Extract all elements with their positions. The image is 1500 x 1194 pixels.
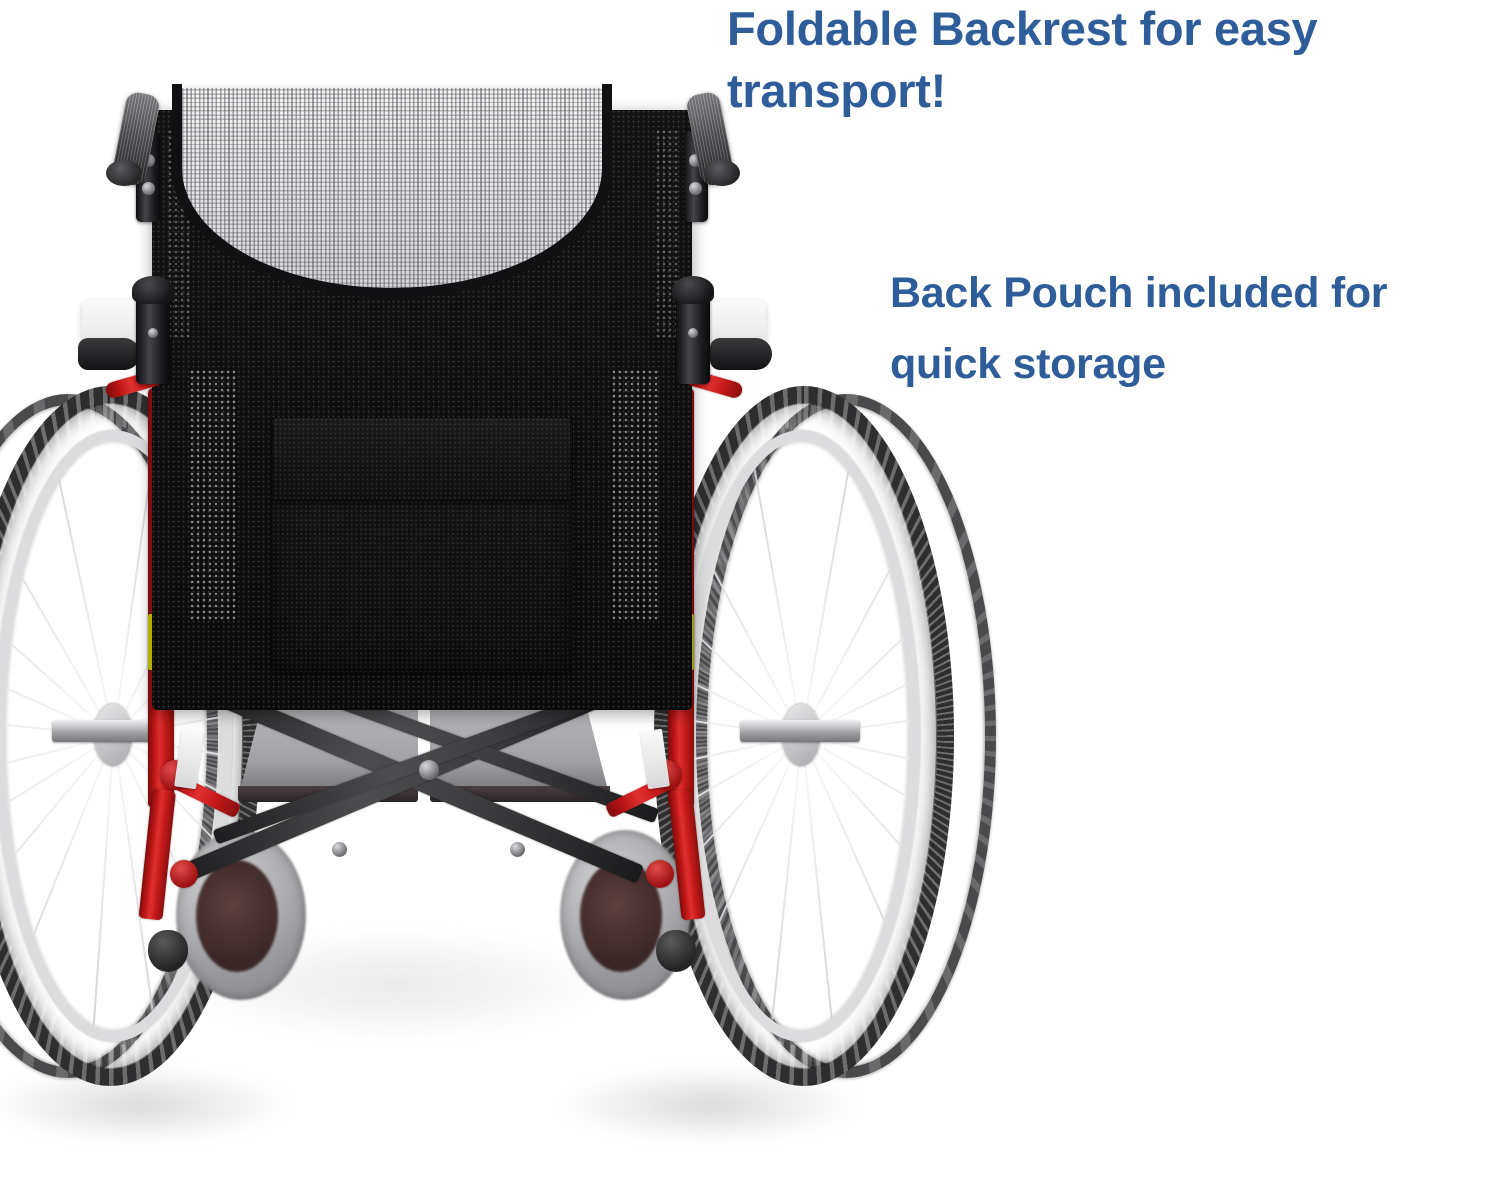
callout-back-pouch: Back Pouch included for quick storage bbox=[890, 258, 1410, 400]
backrest-vent-left bbox=[190, 370, 236, 620]
backrest-release-knob-left[interactable] bbox=[132, 276, 174, 304]
backrest-vent-right bbox=[612, 370, 658, 620]
clamp-screw-right bbox=[688, 328, 698, 338]
cross-brace-bolt-lower-left bbox=[332, 842, 347, 857]
push-handle-right-cap bbox=[704, 160, 740, 186]
clamp-screw-left bbox=[148, 328, 158, 338]
axle-right bbox=[740, 720, 860, 742]
push-handle-left-cap bbox=[106, 160, 142, 186]
wheelchair-photo: ⚭ ⚭ bbox=[0, 70, 860, 1194]
armrest-right-nose bbox=[710, 338, 772, 370]
frame-joint-left-lower bbox=[170, 860, 198, 888]
caster-left-spokes bbox=[196, 860, 278, 972]
back-post-screw-right-2 bbox=[689, 182, 702, 195]
back-pouch-flap bbox=[274, 418, 570, 500]
cross-brace-center-bolt bbox=[419, 760, 439, 780]
armrest-left-nose bbox=[78, 338, 140, 370]
cross-brace-bolt-lower-right bbox=[510, 842, 525, 857]
backrest-release-clamp-right[interactable] bbox=[676, 292, 710, 384]
frame-tip-right bbox=[656, 930, 696, 972]
callout-foldable-backrest: Foldable Backrest for easy transport! bbox=[727, 0, 1487, 122]
backrest-release-knob-right[interactable] bbox=[672, 276, 714, 304]
back-post-screw-left-2 bbox=[142, 182, 155, 195]
frame-tip-left bbox=[148, 930, 188, 972]
backrest-release-clamp-left[interactable] bbox=[136, 292, 170, 384]
product-feature-image: ⚭ ⚭ bbox=[0, 0, 1500, 1194]
frame-joint-right-lower bbox=[646, 860, 674, 888]
